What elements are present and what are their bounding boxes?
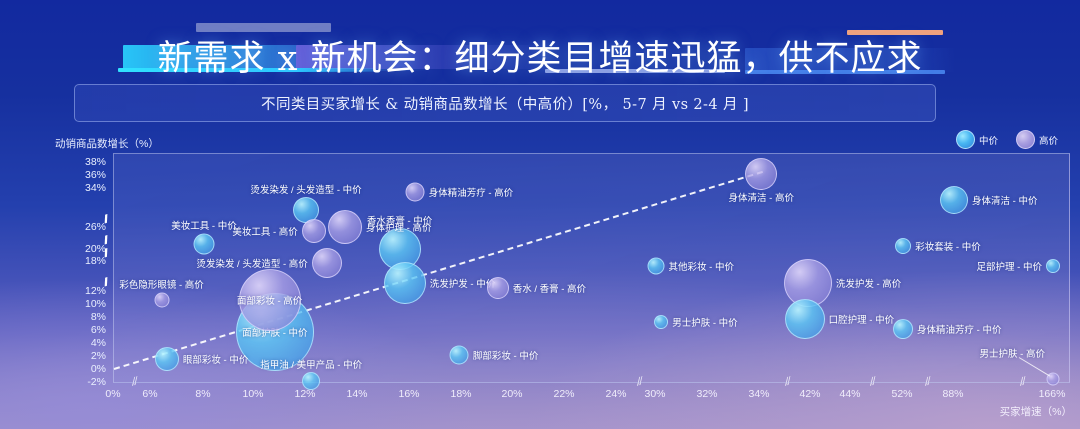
y-axis-tick-34pct: 34% [66, 182, 106, 194]
legend-label-mid: 中价 [979, 133, 998, 147]
x-axis-tick-12pct: 12% [294, 388, 315, 400]
bubble-point[interactable] [940, 186, 968, 214]
bubble-point[interactable] [328, 210, 362, 244]
bubble-point[interactable] [487, 277, 509, 299]
bubble-label: 香水 / 香膏 - 高价 [513, 281, 586, 295]
bubble-label: 面部彩妆 - 高价 [237, 293, 302, 307]
x-axis-title: 买家增速（%） [1000, 404, 1072, 419]
x-axis-tick-10pct: 10% [242, 388, 263, 400]
bubble-point[interactable] [194, 233, 215, 254]
legend-swatch-high-icon [1016, 130, 1035, 149]
y-axis-tick-12pct: 12% [66, 285, 106, 297]
y-axis-tick-20pct: 20% [66, 243, 106, 255]
slide-root: 新需求 x 新机会：细分类目增速迅猛，供不应求 不同类目买家增长 & 动销商品数… [0, 0, 1080, 429]
bubble-label: 脚部彩妆 - 中价 [473, 348, 538, 362]
bubble-label: 眼部彩妆 - 中价 [183, 352, 248, 366]
bubble-point[interactable] [648, 257, 665, 274]
bubble-point[interactable] [406, 183, 425, 202]
bubble-point[interactable] [745, 158, 777, 190]
y-axis-tick-38pct: 38% [66, 156, 106, 168]
bubble-label: 洗发护发 - 中价 [430, 276, 495, 290]
bubble-label: 烫发染发 / 头发造型 - 中价 [250, 182, 361, 196]
x-axis-tick-14pct: 14% [346, 388, 367, 400]
y-axis-tick-neg2pct: -2% [66, 376, 106, 388]
bubble-point[interactable] [1046, 259, 1060, 273]
legend-item-mid[interactable]: 中价 [956, 130, 998, 149]
x-axis-tick-0pct: 0% [105, 388, 120, 400]
bubble-point[interactable] [302, 219, 326, 243]
x-axis-tick-32pct: 32% [696, 388, 717, 400]
scatter-plot-area: 面部护肤 - 中价面部彩妆 - 高价洗发护发 - 高价香水香膏 - 中价洗发护发… [113, 153, 1070, 383]
bubble-label: 烫发染发 / 头发造型 - 高价 [196, 256, 307, 270]
bubble-point[interactable] [893, 319, 913, 339]
page-title: 新需求 x 新机会：细分类目增速迅猛，供不应求 [0, 30, 1080, 81]
chart-subtitle-bar: 不同类目买家增长 & 动销商品数增长（中高价）[%， 5-7 月 vs 2-4 … [74, 84, 936, 122]
y-axis-tick-6pct: 6% [66, 324, 106, 336]
bubble-label: 身体清洁 - 高价 [729, 190, 794, 204]
bubble-point[interactable] [384, 262, 426, 304]
legend-item-high[interactable]: 高价 [1016, 130, 1058, 149]
y-axis-tick-0pct: 0% [66, 363, 106, 375]
x-axis-tick-6pct: 6% [142, 388, 157, 400]
x-axis-tick-52pct: 52% [891, 388, 912, 400]
x-axis-tick-166pct: 166% [1039, 388, 1066, 400]
bubble-point[interactable] [450, 345, 469, 364]
y-axis-tick-8pct: 8% [66, 311, 106, 323]
bubble-label: 男士护肤 - 中价 [672, 315, 737, 329]
bubble-label: 身体护理 - 高价 [366, 220, 431, 234]
bubble-point[interactable] [302, 372, 320, 390]
bubble-point[interactable] [154, 292, 169, 307]
legend-label-high: 高价 [1039, 133, 1058, 147]
y-axis-tick-2pct: 2% [66, 350, 106, 362]
x-axis-tick-22pct: 22% [553, 388, 574, 400]
y-axis-tick-18pct: 18% [66, 255, 106, 267]
y-axis-title: 动销商品数增长（%） [55, 136, 159, 151]
x-axis-tick-16pct: 16% [398, 388, 419, 400]
x-axis-tick-24pct: 24% [605, 388, 626, 400]
x-axis-tick-42pct: 42% [799, 388, 820, 400]
bubble-label: 身体清洁 - 中价 [972, 193, 1037, 207]
bubble-label: 男士护肤 - 高价 [980, 346, 1045, 360]
x-axis-tick-88pct: 88% [942, 388, 963, 400]
y-axis-tick-10pct: 10% [66, 298, 106, 310]
x-axis-tick-20pct: 20% [501, 388, 522, 400]
x-axis-tick-8pct: 8% [195, 388, 210, 400]
bubble-point[interactable] [895, 238, 911, 254]
x-axis-tick-30pct: 30% [644, 388, 665, 400]
y-axis-tick-4pct: 4% [66, 337, 106, 349]
legend-swatch-mid-icon [956, 130, 975, 149]
x-axis-tick-44pct: 44% [839, 388, 860, 400]
bubble-label: 口腔护理 - 中价 [829, 312, 894, 326]
bubble-label: 美妆工具 - 中价 [171, 218, 236, 232]
bubble-label: 彩色隐形眼镜 - 高价 [119, 277, 203, 291]
bubble-label: 身体精油芳疗 - 高价 [429, 185, 513, 199]
bubble-label: 美妆工具 - 高价 [232, 224, 297, 238]
bubble-label: 其他彩妆 - 中价 [669, 259, 734, 273]
bubble-point[interactable] [312, 248, 342, 278]
bubble-point[interactable] [654, 315, 668, 329]
bubble-label: 指甲油 / 美甲产品 - 中价 [260, 357, 362, 371]
bubble-label: 身体精油芳疗 - 中价 [917, 322, 1001, 336]
chart-legend: 中价 高价 [956, 130, 1058, 149]
x-axis-tick-34pct: 34% [748, 388, 769, 400]
bubble-label: 足部护理 - 中价 [977, 259, 1042, 273]
bubble-label: 洗发护发 - 高价 [836, 276, 901, 290]
x-axis-tick-18pct: 18% [450, 388, 471, 400]
title-block: 新需求 x 新机会：细分类目增速迅猛，供不应求 [0, 10, 1080, 74]
bubble-label: 彩妆套装 - 中价 [915, 239, 980, 253]
bubble-point[interactable] [155, 347, 179, 371]
bubble-point[interactable] [785, 299, 825, 339]
chart-subtitle: 不同类目买家增长 & 动销商品数增长（中高价）[%， 5-7 月 vs 2-4 … [261, 93, 749, 114]
y-axis-tick-26pct: 26% [66, 221, 106, 233]
y-axis-tick-36pct: 36% [66, 169, 106, 181]
trendline [114, 171, 764, 370]
